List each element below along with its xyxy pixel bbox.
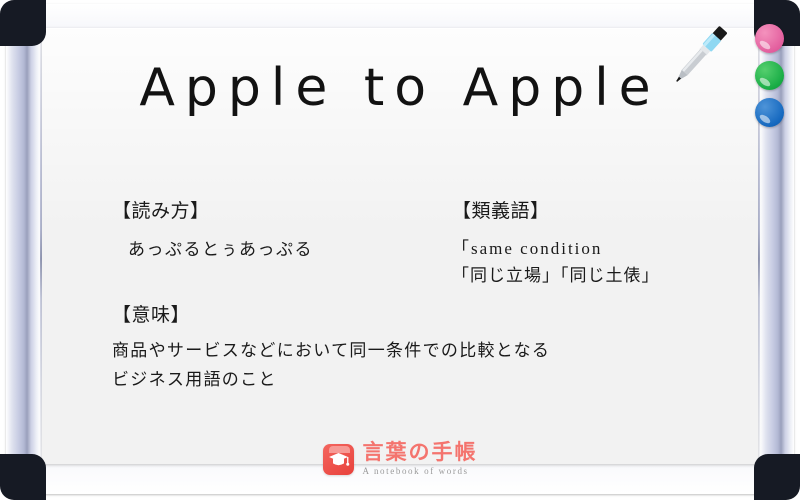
logo-tagline-en: A notebook of words	[363, 467, 478, 476]
reading-value: あっぷるとぅあっぷる	[112, 235, 452, 260]
logo-title-jp: 言葉の手帳	[363, 442, 478, 463]
synonym-line-1: 「same condition	[452, 235, 712, 263]
board-content: Apple to Apple 【読み方】 あっぷるとぅあっぷる 【類義語】 「s…	[0, 0, 800, 500]
logo-text: 言葉の手帳 A notebook of words	[363, 442, 478, 476]
book-graduation-cap-icon	[323, 444, 354, 475]
meaning-label: 【意味】	[112, 300, 702, 327]
site-logo: 言葉の手帳 A notebook of words	[0, 442, 800, 476]
reading-section: 【読み方】 あっぷるとぅあっぷる	[112, 200, 452, 260]
reading-label: 【読み方】	[112, 200, 452, 224]
whiteboard: Apple to Apple 【読み方】 あっぷるとぅあっぷる 【類義語】 「s…	[0, 0, 800, 500]
meaning-line-1: 商品やサービスなどにおいて同一条件での比較となる	[112, 336, 702, 365]
synonyms-label: 【類義語】	[452, 200, 712, 224]
synonym-line-2: 「同じ立場」「同じ土俵」	[452, 262, 712, 290]
meaning-section: 【意味】 商品やサービスなどにおいて同一条件での比較となる ビジネス用語のこと	[112, 300, 702, 394]
page-title: Apple to Apple	[0, 58, 800, 118]
meaning-line-2: ビジネス用語のこと	[112, 365, 702, 394]
synonyms-section: 【類義語】 「same condition 「同じ立場」「同じ土俵」	[452, 200, 712, 290]
